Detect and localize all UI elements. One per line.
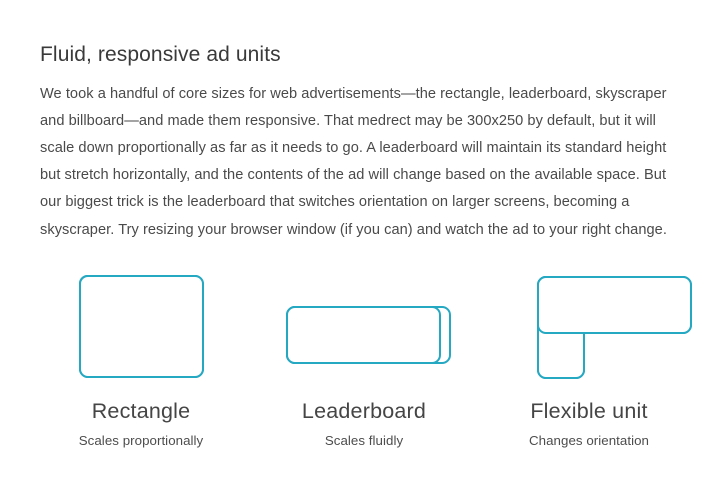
card-title-leaderboard: Leaderboard [253, 398, 475, 424]
page-title: Fluid, responsive ad units [40, 43, 281, 67]
ad-unit-cards: Rectangle Scales proportionally Leaderbo… [0, 262, 726, 462]
card-title-flexible-unit: Flexible unit [478, 398, 700, 424]
leaderboard-figure [253, 262, 475, 384]
ad-units-section: Fluid, responsive ad units We took a han… [0, 0, 726, 486]
card-title-rectangle: Rectangle [31, 398, 251, 424]
card-rectangle[interactable]: Rectangle Scales proportionally [31, 262, 251, 450]
horizontal-banner-icon [279, 262, 449, 384]
card-subtitle-flexible-unit: Changes orientation [478, 431, 700, 450]
card-subtitle-rectangle: Scales proportionally [31, 431, 251, 450]
l-shaped-unit-icon [504, 262, 674, 384]
rectangle-figure [31, 262, 251, 384]
nested-rectangles-icon [61, 262, 221, 384]
description-paragraph: We took a handful of core sizes for web … [40, 81, 690, 244]
card-subtitle-leaderboard: Scales fluidly [253, 431, 475, 450]
flexible-unit-figure [478, 262, 700, 384]
card-flexible-unit[interactable]: Flexible unit Changes orientation [478, 262, 700, 450]
card-leaderboard[interactable]: Leaderboard Scales fluidly [253, 262, 475, 450]
